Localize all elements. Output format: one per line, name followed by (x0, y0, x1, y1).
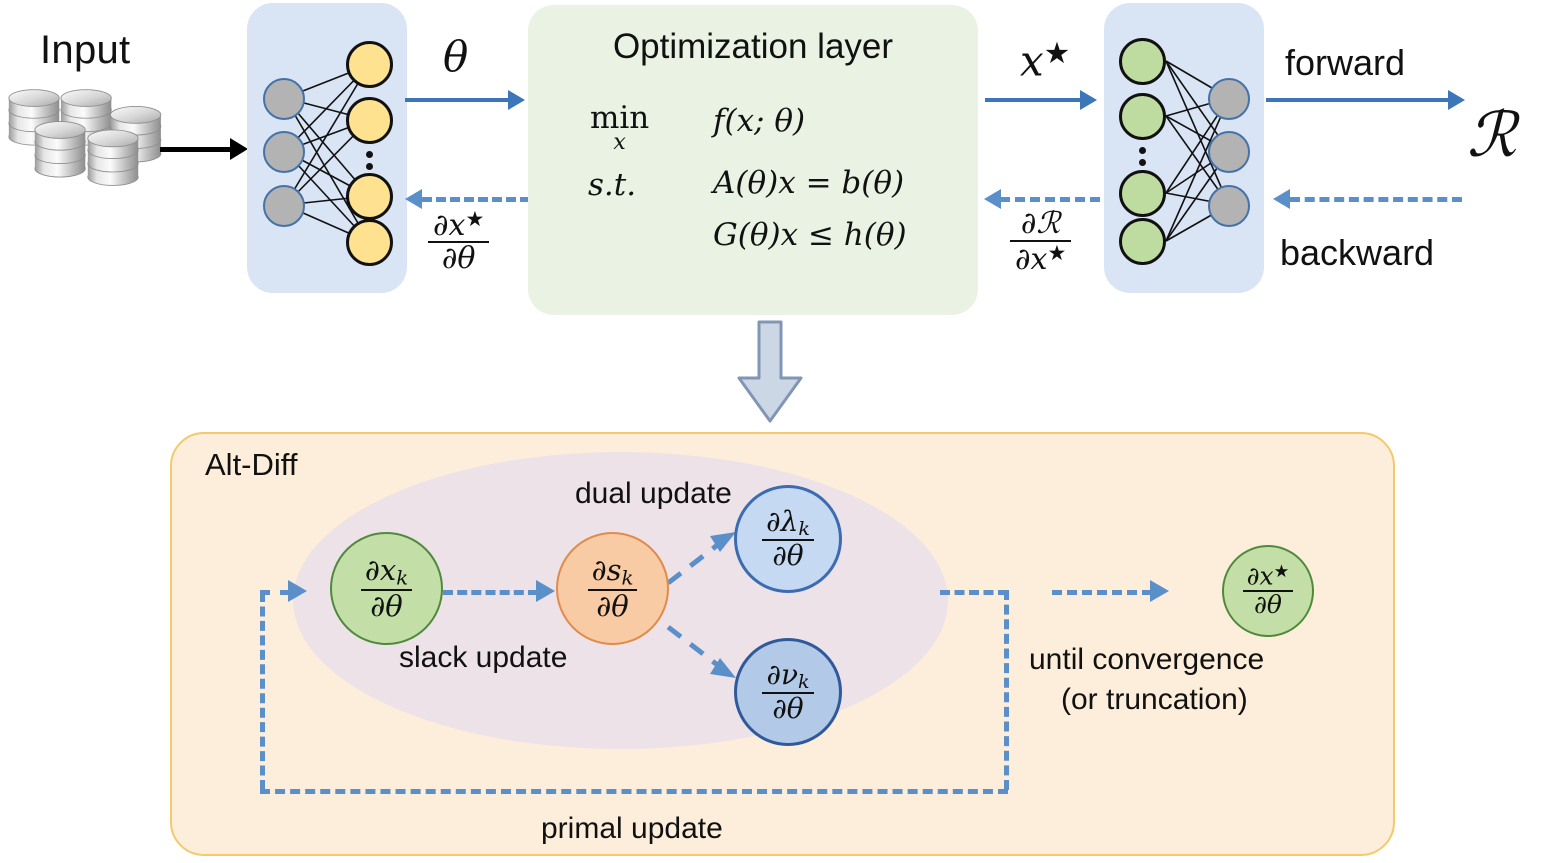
node-dx-k-formula: ∂xk ∂θ (361, 555, 412, 622)
alt-diff-title: Alt-Diff (205, 447, 297, 483)
grad-xstar-arrow-line (422, 197, 530, 202)
backward-arrow-head-icon (1273, 189, 1290, 209)
nn-left-output-node (346, 219, 393, 266)
node-ds-k-formula: ∂sk ∂θ (588, 555, 638, 622)
optimization-objective: f(x; θ) (713, 103, 805, 139)
xstar-label: x★ (1020, 36, 1070, 85)
node-dx-k-sub: k (396, 566, 408, 589)
until-convergence-label-line2: (or truncation) (1061, 683, 1248, 717)
backward-arrow-line (1290, 197, 1462, 202)
primal-loop-bottom-segment (260, 789, 1008, 794)
nn-right-output-node (1208, 131, 1250, 173)
nn-left-vertical-dots-icon (366, 163, 373, 170)
node-dnu-k-den: ∂θ (762, 692, 813, 724)
xstar-arrow-head-icon (1080, 90, 1097, 110)
optimization-layer-box: Optimization layer min x s.t. f(x; θ) A(… (528, 5, 978, 315)
grad-R-den: ∂x (1015, 241, 1047, 276)
node-dlambda-k-num: ∂λ (766, 505, 798, 538)
node-dlambda-k-den: ∂θ (762, 539, 814, 571)
optimization-equality-constraint: A(θ)x = b(θ) (713, 165, 904, 201)
nn-left-output-node (346, 97, 393, 144)
node-dnu-k-sub: k (798, 671, 810, 693)
node-dx-star-num: ∂x (1247, 562, 1274, 591)
xstar-base: x (1020, 36, 1044, 85)
slack-update-label: slack update (399, 641, 567, 675)
loop-entry-arrow-head-icon (288, 580, 307, 602)
node-ds-k-sub: k (621, 566, 633, 589)
nn-left-output-node (346, 173, 393, 220)
node-dlambda-k-formula: ∂λk ∂θ (762, 507, 814, 571)
loss-symbol-label: ℛ (1467, 98, 1516, 171)
nn-right-input-node (1119, 38, 1166, 85)
until-convergence-label-line1: until convergence (1029, 643, 1264, 677)
neural-network-right (1104, 3, 1264, 293)
grad-R-xstar-label: ∂ℛ ∂x★ (1010, 208, 1071, 275)
primal-loop-left-segment (260, 592, 265, 790)
node-dx-star-sub: ★ (1274, 562, 1290, 582)
node-dx-star: ∂x★ ∂θ (1222, 545, 1314, 637)
backward-label: backward (1280, 232, 1434, 274)
optimization-min-operator: min x (590, 103, 649, 154)
nn-left-input-node (263, 78, 305, 120)
grad-xstar-arrow-head-icon (405, 189, 422, 209)
convergence-exit-arrow-head-icon (1150, 580, 1169, 602)
neural-network-left (247, 3, 407, 293)
nn-left-vertical-dots-icon (366, 151, 373, 158)
slack-update-arrow-line (443, 590, 538, 595)
grad-R-arrow-head-icon (984, 189, 1001, 209)
node-dlambda-k-sub: k (798, 518, 810, 540)
loop-entry-line (260, 590, 290, 595)
slack-update-arrow-head-icon (536, 580, 555, 602)
nn-right-vertical-dots-icon (1139, 147, 1146, 154)
dual-update-label: dual update (575, 477, 732, 511)
input-label: Input (40, 28, 130, 73)
nn-left-output-node (346, 41, 393, 88)
node-dnu-k-formula: ∂νk ∂θ (762, 660, 813, 724)
nn-right-output-node (1208, 78, 1250, 120)
node-dx-k-num: ∂x (365, 553, 396, 587)
grad-R-arrow-line (1000, 197, 1100, 202)
database-stack-icon (8, 88, 176, 213)
primal-loop-right-segment (1004, 590, 1009, 790)
forward-arrow-head-icon (1448, 90, 1465, 110)
forward-label: forward (1285, 42, 1405, 84)
nn-right-input-node (1119, 93, 1166, 140)
nn-right-input-node (1119, 218, 1166, 265)
input-arrow-line (160, 147, 232, 152)
xstar-star-icon: ★ (1044, 36, 1070, 70)
node-dnu-k: ∂νk ∂θ (734, 638, 842, 746)
node-ds-k-den: ∂θ (588, 589, 638, 622)
forward-arrow-line (1266, 98, 1451, 102)
node-dx-star-formula: ∂x★ ∂θ (1243, 563, 1294, 618)
optimization-subject-to-label: s.t. (588, 167, 636, 203)
grad-R-num: ∂ℛ (1010, 208, 1071, 240)
grad-xstar-den: ∂θ (428, 241, 489, 275)
node-dnu-k-num: ∂ν (766, 658, 798, 691)
nn-left-input-node (263, 131, 305, 173)
theta-arrow-head-icon (508, 90, 525, 110)
grad-xstar-theta-label: ∂x★ ∂θ (428, 208, 489, 275)
grad-xstar-num-star: ★ (465, 207, 484, 231)
node-ds-k-num: ∂s (592, 553, 622, 587)
node-dlambda-k: ∂λk ∂θ (734, 485, 842, 593)
optimization-layer-title: Optimization layer (528, 27, 978, 67)
input-arrow-head-icon (230, 138, 248, 160)
nn-right-output-node (1208, 185, 1250, 227)
node-dx-k: ∂xk ∂θ (330, 532, 443, 645)
node-dx-star-den: ∂θ (1243, 590, 1294, 619)
theta-arrow-line (405, 98, 511, 102)
down-block-arrow-icon (735, 320, 805, 424)
grad-R-den-star: ★ (1047, 241, 1066, 265)
theta-label: θ (443, 32, 468, 81)
node-dx-k-den: ∂θ (361, 589, 412, 622)
primal-update-label: primal update (541, 812, 723, 846)
optimization-inequality-constraint: G(θ)x ≤ h(θ) (713, 217, 907, 253)
node-ds-k: ∂sk ∂θ (556, 532, 669, 645)
grad-xstar-num: ∂x (433, 208, 465, 243)
nn-right-vertical-dots-icon (1139, 159, 1146, 166)
primal-loop-top-right-segment (940, 590, 1008, 595)
xstar-arrow-line (985, 98, 1083, 102)
nn-right-input-node (1119, 170, 1166, 217)
nn-left-input-node (263, 185, 305, 227)
convergence-exit-line (1052, 590, 1152, 595)
